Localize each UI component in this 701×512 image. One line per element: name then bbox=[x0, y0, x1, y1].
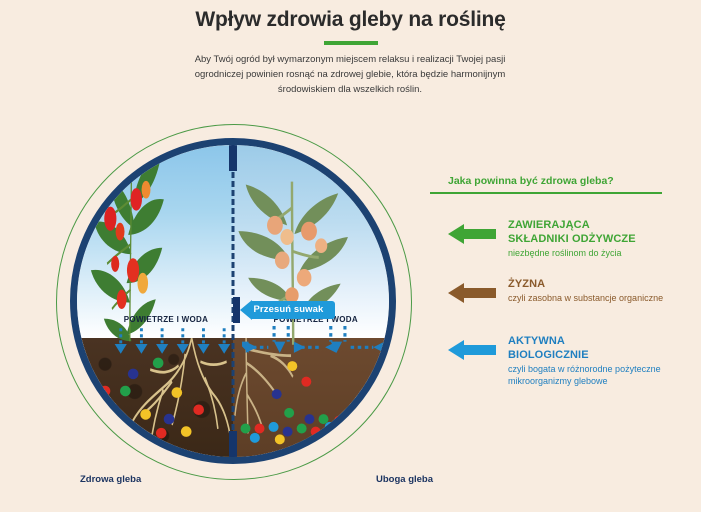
slider-arrow-icon bbox=[240, 300, 252, 320]
arrow-left-green-icon bbox=[448, 222, 496, 246]
comparison-slider-handle[interactable]: Przesuń suwak bbox=[236, 300, 335, 320]
healthy-soil-half: POWIETRZE I WODA bbox=[77, 145, 233, 457]
water-runoff-arrows-right bbox=[242, 326, 386, 357]
item-title-line2: BIOLOGICZNIE bbox=[508, 348, 698, 362]
item-title-line1: ŻYZNA bbox=[508, 277, 698, 291]
caption-healthy-soil: Zdrowa gleba bbox=[80, 474, 141, 485]
item-description: niezbędne roślinom do życia bbox=[508, 247, 698, 259]
arrow-left-blue-icon bbox=[448, 338, 496, 362]
slider-grip[interactable] bbox=[233, 297, 240, 323]
panel-heading: Jaka powinna być zdrowa gleba? bbox=[448, 175, 614, 187]
infographic-page: Wpływ zdrowia gleby na roślinę Aby Twój … bbox=[0, 0, 701, 512]
divider-cap-top bbox=[229, 145, 237, 171]
air-water-label-left: POWIETRZE I WODA bbox=[124, 315, 208, 324]
page-title: Wpływ zdrowia gleby na roślinę bbox=[0, 8, 701, 32]
panel-heading-underline bbox=[430, 192, 662, 194]
soil-comparison-illustration[interactable]: POWIETRZE I WODA bbox=[56, 124, 416, 484]
caption-poor-soil: Uboga gleba bbox=[376, 474, 433, 485]
arrow-left-brown-icon bbox=[448, 281, 496, 305]
soil-quality-item-biologically-active: AKTYWNA BIOLOGICZNIE czyli bogata w różn… bbox=[448, 334, 698, 387]
divider-cap-bottom bbox=[229, 431, 237, 457]
item-description: czyli zasobna w substancje organiczne bbox=[508, 292, 698, 304]
item-title-line1: AKTYWNA bbox=[508, 334, 698, 348]
soil-quality-item-fertile: ŻYZNA czyli zasobna w substancje organic… bbox=[448, 277, 698, 304]
slider-label[interactable]: Przesuń suwak bbox=[252, 301, 336, 319]
page-subtitle: Aby Twój ogród był wymarzonym miejscem r… bbox=[170, 52, 530, 97]
title-underline bbox=[324, 41, 378, 45]
item-title-line2: SKŁADNIKI ODŻYWCZE bbox=[508, 232, 698, 246]
item-title-line1: ZAWIERAJĄCA bbox=[508, 218, 698, 232]
water-infiltration-arrows-left bbox=[111, 326, 233, 357]
soil-quality-item-nutrients: ZAWIERAJĄCA SKŁADNIKI ODŻYWCZE niezbędne… bbox=[448, 218, 698, 259]
item-description: czyli bogata w różnorodne pożyteczne mik… bbox=[508, 363, 698, 387]
